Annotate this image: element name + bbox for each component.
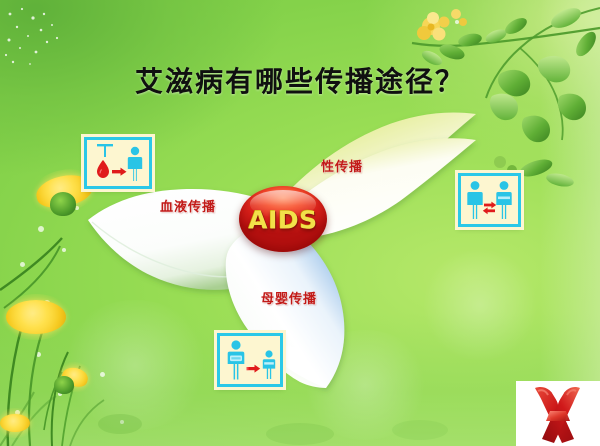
mother-to-baby-icon [217, 333, 283, 387]
poster-canvas: AIDS 血液传播 性传播 母婴传播 [0, 0, 600, 446]
red-ribbon-card [516, 381, 600, 446]
aids-center-badge: AIDS [239, 186, 327, 252]
blood-drop-to-person-icon [84, 137, 152, 189]
red-awareness-ribbon-icon [516, 381, 600, 446]
page-title: 艾滋病有哪些传播途径？ [0, 60, 600, 100]
route-label-sexual: 性传播 [321, 156, 363, 175]
route-label-blood: 血液传播 [160, 196, 216, 215]
two-persons-exchange-icon [458, 173, 521, 227]
route-label-mother-to-child: 母婴传播 [261, 288, 317, 307]
aids-badge-label: AIDS [239, 206, 327, 235]
